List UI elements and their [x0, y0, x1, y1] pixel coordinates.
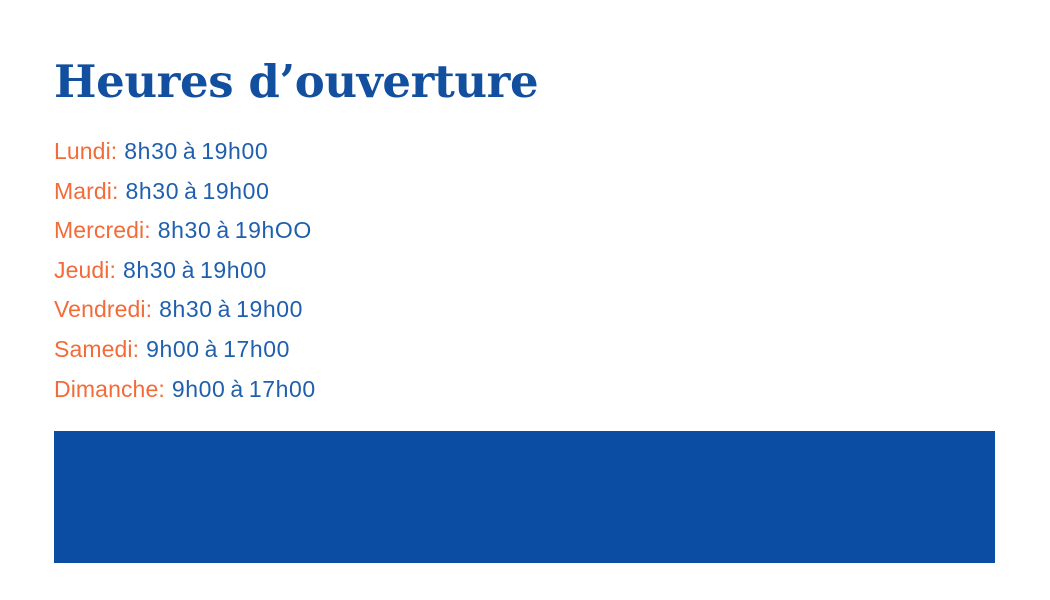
- slide-canvas: Heures d’ouverture Lundi:8h30à19h00 Mard…: [0, 0, 1050, 600]
- time-separator: à: [213, 296, 236, 322]
- list-item: Mardi:8h30à19h00: [54, 172, 654, 212]
- day-label: Jeudi:: [54, 257, 116, 283]
- opening-hours-list: Lundi:8h30à19h00 Mardi:8h30à19h00 Mercre…: [54, 132, 654, 409]
- day-label: Lundi:: [54, 138, 117, 164]
- open-time: 8h30: [126, 178, 180, 204]
- open-time: 8h30: [159, 296, 213, 322]
- list-item: Dimanche:9h00à17h00: [54, 370, 654, 410]
- open-time: 9h00: [172, 376, 226, 402]
- day-hours: 8h30à19h00: [124, 138, 268, 164]
- close-time: 19h00: [200, 257, 267, 283]
- list-item: Mercredi:8h30à19hOO: [54, 211, 654, 251]
- time-separator: à: [178, 138, 201, 164]
- page-title: Heures d’ouverture: [54, 57, 538, 107]
- list-item: Vendredi:8h30à19h00: [54, 290, 654, 330]
- day-label: Dimanche:: [54, 376, 165, 402]
- close-time: 19hOO: [235, 217, 312, 243]
- open-time: 8h30: [158, 217, 212, 243]
- day-hours: 8h30à19h00: [126, 178, 270, 204]
- day-hours: 8h30à19h00: [123, 257, 267, 283]
- open-time: 9h00: [146, 336, 200, 362]
- time-separator: à: [179, 178, 202, 204]
- day-hours: 9h00à17h00: [146, 336, 290, 362]
- list-item: Samedi:9h00à17h00: [54, 330, 654, 370]
- time-separator: à: [200, 336, 223, 362]
- list-item: Jeudi:8h30à19h00: [54, 251, 654, 291]
- open-time: 8h30: [124, 138, 178, 164]
- day-label: Samedi:: [54, 336, 139, 362]
- close-time: 19h00: [203, 178, 270, 204]
- day-hours: 8h30à19h00: [159, 296, 303, 322]
- time-separator: à: [177, 257, 200, 283]
- day-label: Vendredi:: [54, 296, 152, 322]
- blue-content-panel: [54, 431, 995, 563]
- day-hours: 8h30à19hOO: [158, 217, 312, 243]
- close-time: 19h00: [201, 138, 268, 164]
- list-item: Lundi:8h30à19h00: [54, 132, 654, 172]
- time-separator: à: [225, 376, 248, 402]
- day-label: Mardi:: [54, 178, 119, 204]
- close-time: 19h00: [236, 296, 303, 322]
- close-time: 17h00: [249, 376, 316, 402]
- day-label: Mercredi:: [54, 217, 151, 243]
- open-time: 8h30: [123, 257, 177, 283]
- close-time: 17h00: [223, 336, 290, 362]
- day-hours: 9h00à17h00: [172, 376, 316, 402]
- time-separator: à: [211, 217, 234, 243]
